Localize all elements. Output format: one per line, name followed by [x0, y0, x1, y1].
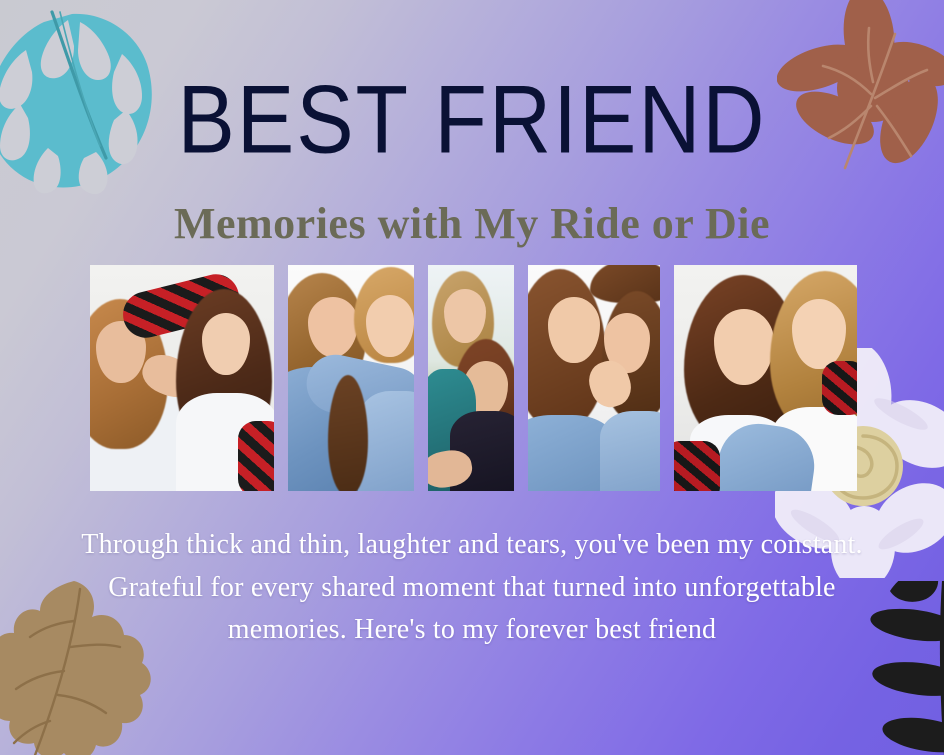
photo-item[interactable]: [288, 265, 414, 491]
best-friend-poster: BEST FRIEND Memories with My Ride or Die: [0, 0, 944, 755]
photo-item[interactable]: [528, 265, 660, 491]
title-block: BEST FRIEND: [0, 72, 944, 158]
photo-item[interactable]: [674, 265, 857, 491]
page-title: BEST FRIEND: [0, 72, 944, 168]
photo-strip: [90, 265, 855, 491]
page-subtitle: Memories with My Ride or Die: [0, 200, 944, 248]
photo-item[interactable]: [90, 265, 274, 491]
photo-item[interactable]: [428, 265, 514, 491]
quote-text: Through thick and thin, laughter and tea…: [72, 524, 872, 652]
